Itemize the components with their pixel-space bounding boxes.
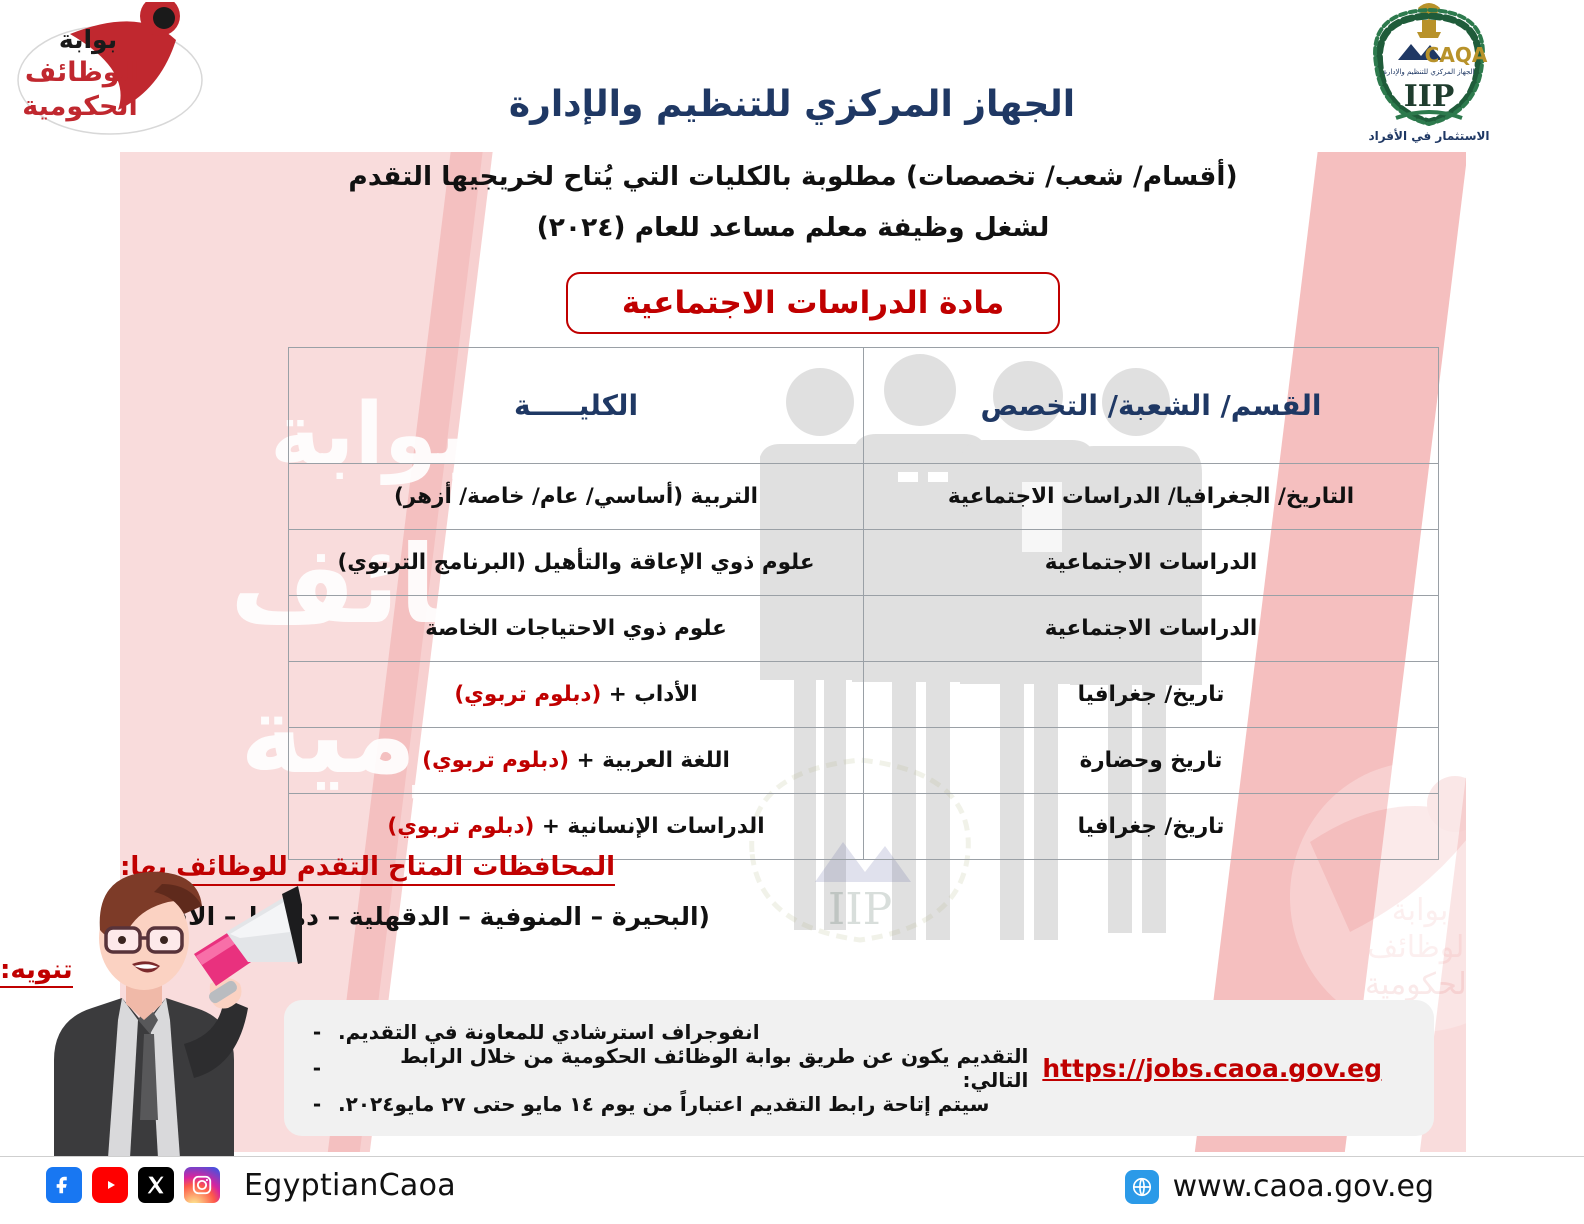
table-row: تاريخ/ جغرافياالدراسات الإنسانية + (دبلو… [289,794,1439,860]
page-title: الجهاز المركزي للتنظيم والإدارة [0,84,1584,125]
table-row: تاريخ وحضارةاللغة العربية + (دبلوم تربوي… [289,728,1439,794]
svg-text:الجهاز المركزي للتنظيم والإدار: الجهاز المركزي للتنظيم والإدارة [1383,68,1474,76]
x-twitter-icon[interactable] [138,1167,174,1203]
youtube-icon[interactable] [92,1167,128,1203]
website-url-text: www.caoa.gov.eg [1173,1169,1434,1204]
subtitle-line-2: لشغل وظيفة معلم مساعد للعام (٢٠٢٤) [120,211,1466,244]
cell-college: الأداب + (دبلوم تربوي) [289,662,864,728]
cell-department: الدراسات الاجتماعية [864,596,1439,662]
man-with-megaphone-illustration [12,858,302,1158]
table-row: التاريخ/ الجغرافيا/ الدراسات الاجتماعيةا… [289,464,1439,530]
notice-item-3: سيتم إتاحة رابط التقديم اعتباراً من يوم … [310,1086,1408,1122]
footer: EgyptianCaoa www.caoa.gov.eg [0,1156,1584,1224]
specializations-table: القسم/ الشعبة/ التخصص الكليـــــة التاري… [288,347,1439,860]
subject-badge: مادة الدراسات الاجتماعية [566,272,1060,334]
cell-college: علوم ذوي الاحتياجات الخاصة [289,596,864,662]
notice-text-1: انفوجراف استرشادي للمعاونة في التقديم. [338,1020,760,1044]
college-diploma-note: (دبلوم تربوي) [422,748,569,773]
cell-college: اللغة العربية + (دبلوم تربوي) [289,728,864,794]
bullet-dash-icon: - [310,1020,324,1044]
cell-department: تاريخ/ جغرافيا [864,794,1439,860]
facebook-icon[interactable] [46,1167,82,1203]
notice-item-2: https://jobs.caoa.gov.eg التقديم يكون عن… [310,1050,1408,1086]
table-header-row: القسم/ الشعبة/ التخصص الكليـــــة [289,348,1439,464]
cell-department: الدراسات الاجتماعية [864,530,1439,596]
column-header-college: الكليـــــة [289,348,864,464]
globe-icon [1125,1170,1159,1204]
governorates-section: المحافظات المتاح التقدم للوظائف بها: (ال… [120,852,1430,931]
notice-box: انفوجراف استرشادي للمعاونة في التقديم. -… [284,1000,1434,1136]
cell-department: التاريخ/ الجغرافيا/ الدراسات الاجتماعية [864,464,1439,530]
svg-text:CAQA: CAQA [1425,43,1488,67]
bullet-dash-icon: - [310,1092,324,1116]
table-row: الدراسات الاجتماعيةعلوم ذوي الإعاقة والت… [289,530,1439,596]
cell-college: الدراسات الإنسانية + (دبلوم تربوي) [289,794,864,860]
subtitle-line-1: (أقسام/ شعب/ تخصصات) مطلوبة بالكليات الت… [120,160,1466,193]
college-name: الأداب + [601,682,697,707]
infographic-page: بوابة الوظائف الحكومية IIP [0,0,1584,1224]
social-handle-text: EgyptianCaoa [244,1168,456,1203]
table-row: تاريخ/ جغرافياالأداب + (دبلوم تربوي) [289,662,1439,728]
college-diploma-note: (دبلوم تربوي) [454,682,601,707]
column-header-department: القسم/ الشعبة/ التخصص [864,348,1439,464]
table-row: الدراسات الاجتماعيةعلوم ذوي الاحتياجات ا… [289,596,1439,662]
college-name: الدراسات الإنسانية + [534,814,764,839]
cell-department: تاريخ وحضارة [864,728,1439,794]
footer-website-group[interactable]: www.caoa.gov.eg [1125,1169,1434,1204]
subject-badge-label: مادة الدراسات الاجتماعية [622,285,1004,321]
bullet-dash-icon: - [310,1056,324,1080]
college-diploma-note: (دبلوم تربوي) [387,814,534,839]
svg-text:بوابة: بوابة [59,25,117,55]
notice-text-2: التقديم يكون عن طريق بوابة الوظائف الحكو… [338,1044,1029,1092]
caoa-iip-seal-logo: CAQA الجهاز المركزي للتنظيم والإدارة IIP… [1334,2,1524,152]
cell-college: التربية (أساسي/ عام/ خاصة/ أزهر) [289,464,864,530]
governorates-list: (البحيرة – المنوفية – الدقهلية – دمياط –… [120,902,1430,931]
college-name: اللغة العربية + [569,748,730,773]
application-url-link[interactable]: https://jobs.caoa.gov.eg [1042,1054,1382,1083]
cell-department: تاريخ/ جغرافيا [864,662,1439,728]
instagram-icon[interactable] [184,1167,220,1203]
svg-text:الاستثمار في الأفراد: الاستثمار في الأفراد [1368,128,1489,143]
footer-social-group: EgyptianCaoa [46,1167,456,1203]
notice-text-3: سيتم إتاحة رابط التقديم اعتباراً من يوم … [338,1092,989,1116]
subtitle-block: (أقسام/ شعب/ تخصصات) مطلوبة بالكليات الت… [120,160,1466,262]
cell-college: علوم ذوي الإعاقة والتأهيل (البرنامج التر… [289,530,864,596]
